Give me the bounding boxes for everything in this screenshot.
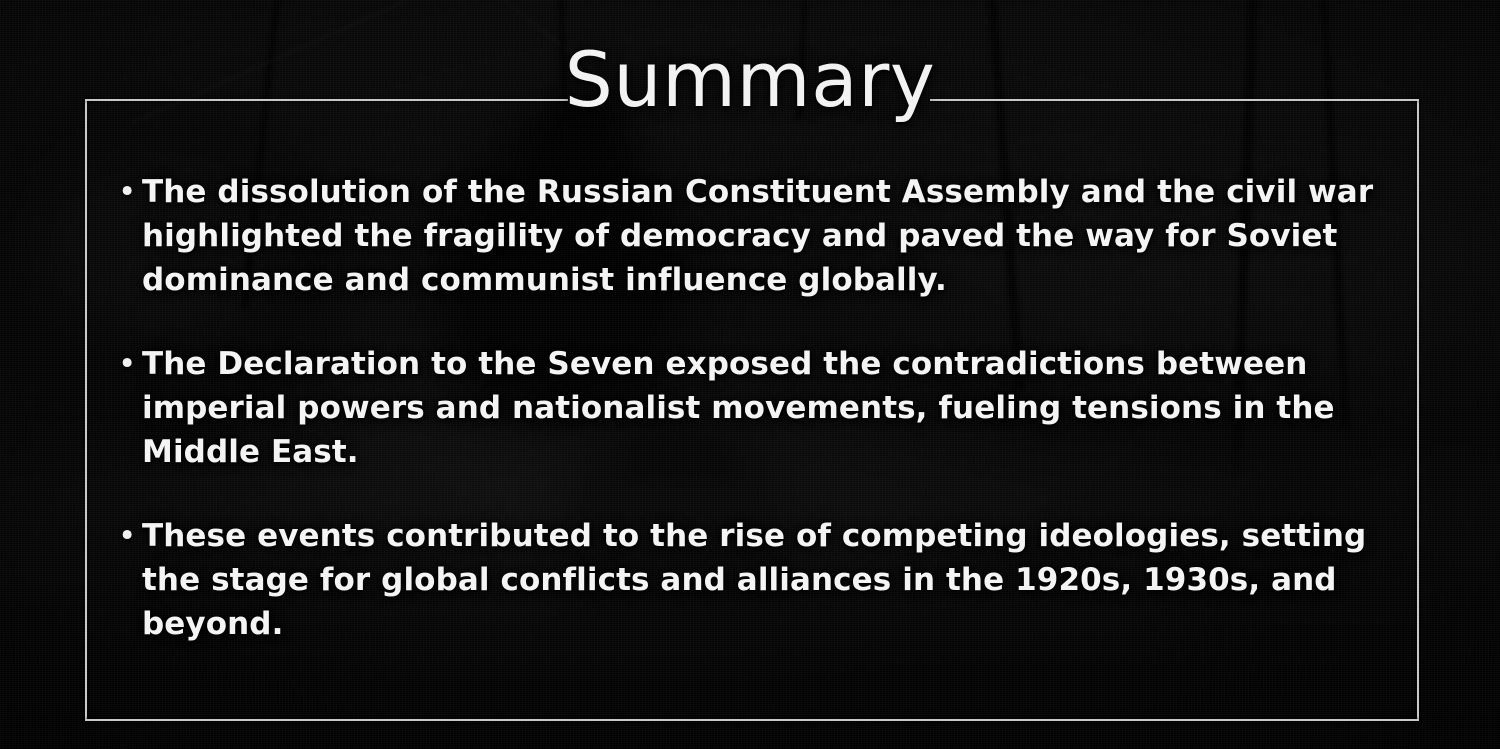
bullet-text: The Declaration to the Seven exposed the… — [142, 342, 1400, 474]
bullet-marker-icon: • — [118, 342, 142, 386]
bullet-marker-icon: • — [118, 170, 142, 214]
slide-title: Summary — [0, 36, 1500, 124]
bullet-item: • These events contributed to the rise o… — [118, 514, 1400, 646]
bullet-list: • The dissolution of the Russian Constit… — [118, 170, 1400, 646]
presentation-slide: Summary • The dissolution of the Russian… — [0, 0, 1500, 749]
bullet-text: The dissolution of the Russian Constitue… — [142, 170, 1400, 302]
bullet-text: These events contributed to the rise of … — [142, 514, 1400, 646]
bullet-marker-icon: • — [118, 514, 142, 558]
bullet-item: • The dissolution of the Russian Constit… — [118, 170, 1400, 302]
bullet-item: • The Declaration to the Seven exposed t… — [118, 342, 1400, 474]
